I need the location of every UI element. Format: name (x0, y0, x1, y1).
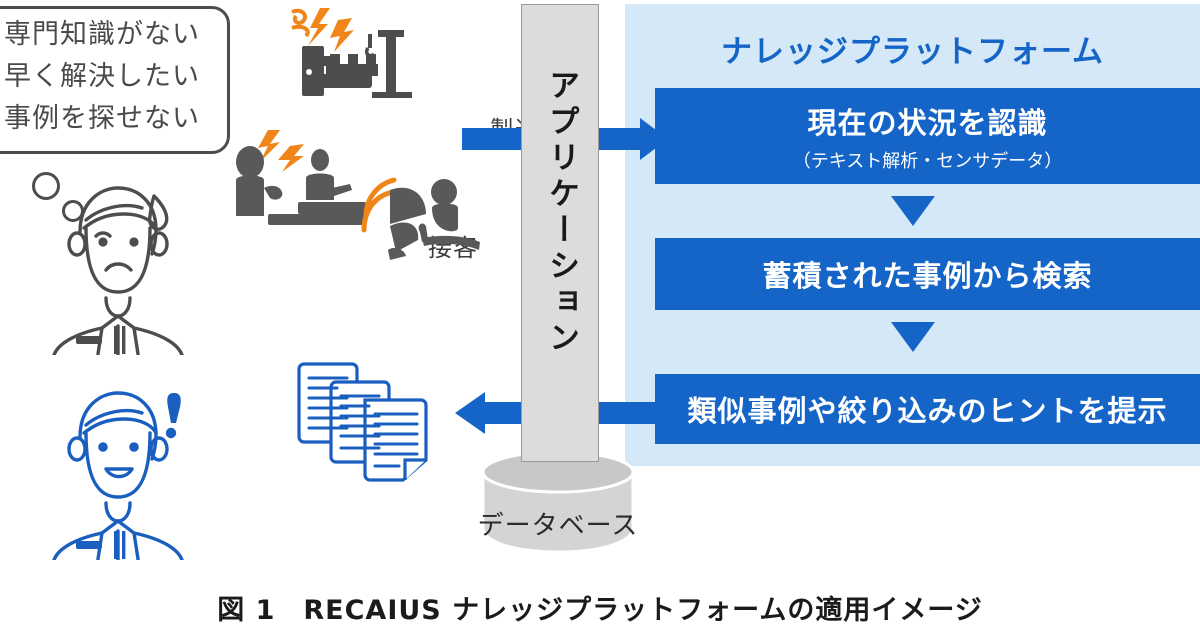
bubble-line-2: ・早く解決したい (0, 56, 226, 98)
platform-step-1-subtitle: （テキスト解析・センサデータ） (793, 147, 1062, 173)
application-label: アプリケーション (522, 69, 600, 357)
knowledge-platform-panel: ナレッジプラットフォーム 現在の状況を認識 （テキスト解析・センサデータ） 蓄積… (625, 4, 1200, 466)
down-triangle-icon-1 (891, 196, 935, 226)
platform-step-1: 現在の状況を認識 （テキスト解析・センサデータ） (655, 88, 1200, 184)
document-stack-icon (295, 360, 445, 490)
scene-nursing-care: 介護 (360, 168, 490, 293)
platform-title: ナレッジプラットフォーム (625, 26, 1200, 71)
happy-worker-icon (28, 375, 208, 560)
down-triangle-icon-2 (891, 322, 935, 352)
figure-canvas: ・専門知識がない ・早く解決したい ・事例を探せない (0, 0, 1200, 630)
bubble-line-3: ・事例を探せない (0, 98, 226, 140)
figure-caption: 図 1 RECAIUS ナレッジプラットフォームの適用イメージ (0, 588, 1200, 627)
application-bar: アプリケーション (521, 4, 599, 462)
platform-step-1-title: 現在の状況を認識 (807, 100, 1047, 142)
bubble-line-1: ・専門知識がない (0, 14, 226, 56)
database-cylinder: データベース (475, 450, 641, 565)
database-label: データベース (463, 505, 653, 542)
scene-customer-service: 接客 (228, 128, 378, 273)
nursing-care-icon (360, 168, 490, 263)
factory-conveyor-icon (290, 6, 440, 116)
platform-step-2: 蓄積された事例から検索 (655, 238, 1200, 310)
worried-worker-icon (28, 170, 208, 355)
platform-step-3-title: 類似事例や絞り込みのヒントを提示 (687, 388, 1167, 430)
customer-service-icon (228, 128, 378, 233)
speech-bubble-text: ・専門知識がない ・早く解決したい ・事例を探せない (0, 14, 226, 140)
platform-step-2-title: 蓄積された事例から検索 (762, 253, 1092, 295)
platform-step-3: 類似事例や絞り込みのヒントを提示 (655, 374, 1200, 444)
